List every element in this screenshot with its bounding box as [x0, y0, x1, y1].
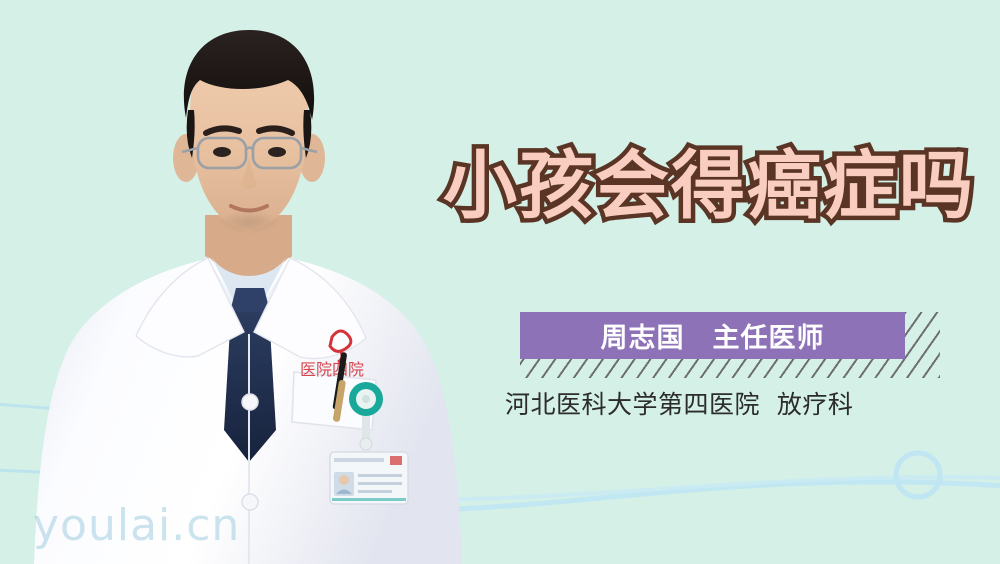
deco-circle-node [896, 453, 940, 497]
doctor-name-badge: 周志国 主任医师 [505, 306, 935, 382]
id-badge-card [330, 452, 408, 504]
eye-left [213, 147, 231, 157]
coat-button-1 [242, 394, 258, 410]
thumbnail-canvas: 医院四院 [0, 0, 1000, 564]
page-title: 小孩会得癌症吗 [443, 138, 973, 234]
hospital-department-line: 河北医科大学第四医院 放疗科 [505, 385, 945, 421]
deco-curve-2 [420, 477, 1000, 500]
deco-curve-1 [430, 482, 1000, 510]
tie-knot [230, 288, 270, 312]
coat-button-2 [242, 494, 258, 510]
badge-name-text: 周志国 主任医师 [520, 312, 905, 359]
eye-right [268, 147, 286, 157]
chin-shade [219, 210, 279, 234]
doctor-portrait: 医院四院 [0, 0, 470, 564]
hospital-logo-text: 医院四院 [300, 360, 364, 379]
site-watermark: youlai.cn [33, 500, 240, 551]
